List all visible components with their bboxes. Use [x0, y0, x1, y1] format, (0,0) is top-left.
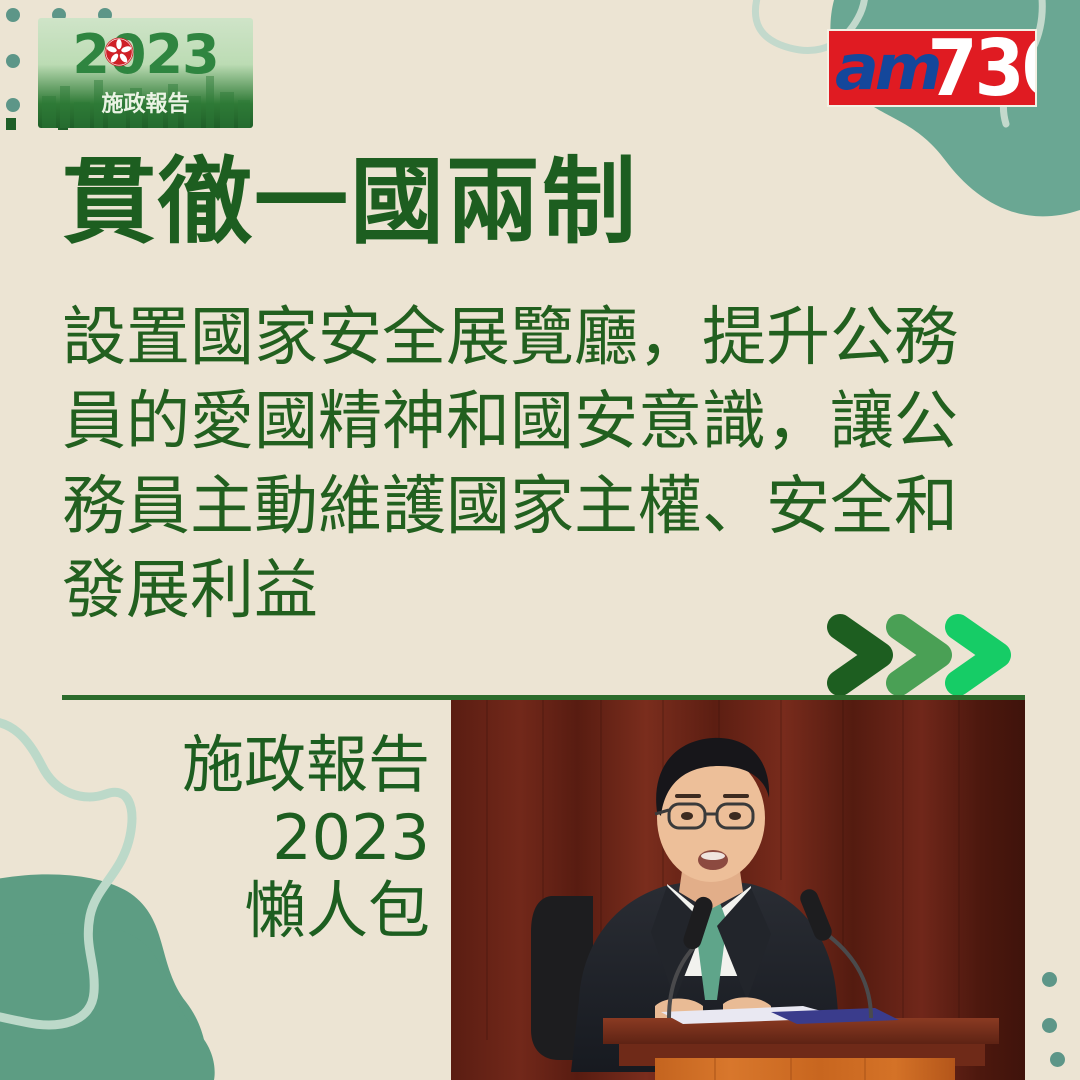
dot-grid-tl-4 [6, 54, 20, 68]
podium-front-panel [655, 1058, 955, 1080]
hong-kong-bauhinia-emblem [104, 37, 134, 67]
dot-col-right-2 [1042, 1018, 1057, 1033]
dot-col-right-1 [1042, 972, 1057, 987]
logo-year-text: 2023 [38, 24, 253, 86]
policy-address-2023-logo: 2023 施政報告 [38, 18, 253, 128]
dot-row-bottom-7 [1050, 1052, 1065, 1067]
chevron-right-icon-3 [958, 627, 998, 683]
dot-grid-tl-5 [6, 98, 20, 112]
photo-illustration [451, 700, 1025, 1080]
chief-executive-speech-photo [451, 700, 1025, 1080]
caption-line-3: 懶人包 [100, 874, 430, 947]
caption-line-1: 施政報告 [100, 728, 430, 801]
chevron-right-icon-2 [899, 627, 939, 683]
am730-730-text: 730 [927, 29, 1037, 107]
blob-bottom-left-lobe [0, 930, 215, 1080]
dot-grid-tl-1 [6, 8, 20, 22]
chevron-arrows-svg [826, 611, 1041, 699]
series-caption: 施政報告 2023 懶人包 [100, 728, 430, 947]
am730-logo: am 730 [827, 29, 1037, 107]
logo-subtitle-text: 施政報告 [38, 88, 253, 122]
chevron-arrows-group [826, 611, 1041, 699]
caption-line-2: 2023 [100, 801, 430, 874]
speck-1 [6, 118, 16, 130]
page-title: 貫徹一國兩制 [62, 156, 1022, 250]
chevron-right-icon-1 [840, 627, 880, 683]
am730-am-text: am [835, 37, 938, 99]
teeth [701, 852, 725, 860]
infographic-canvas: 2023 施政報告 am 730 貫徹一國兩制 設置國家安全展覽廳，提升公務員的… [0, 0, 1080, 1080]
body-paragraph: 設置國家安全展覽廳，提升公務員的愛國精神和國安意識，讓公務員主動維護國家主權、安… [62, 296, 992, 634]
